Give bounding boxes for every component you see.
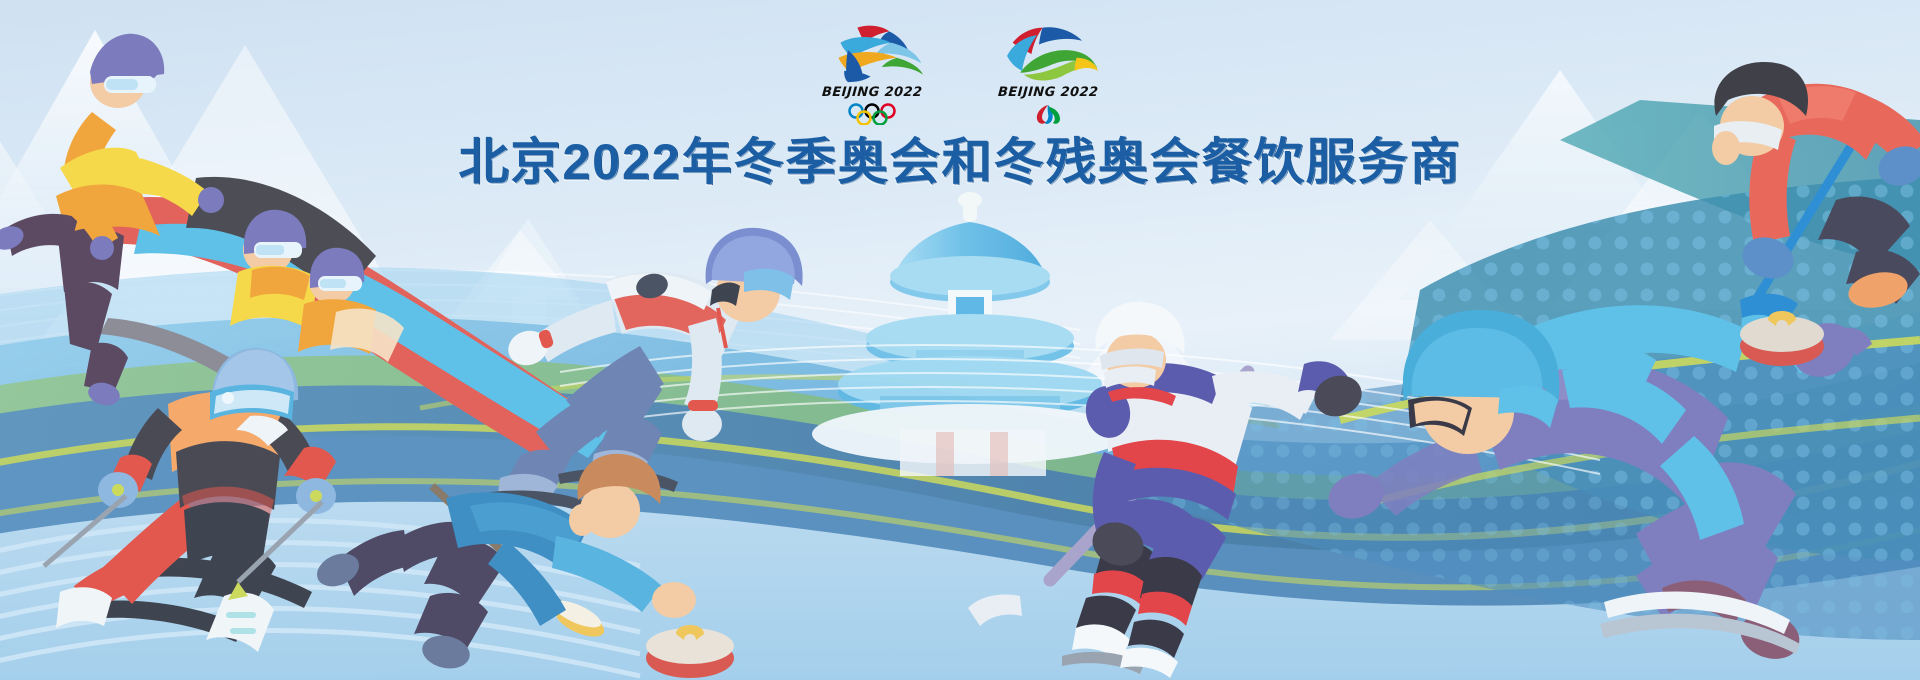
paralympic-emblem[interactable]: BEIJING 2022	[989, 22, 1107, 125]
paralympic-wordmark: BEIJING 2022	[997, 85, 1098, 100]
curling-stone-bottom	[646, 625, 734, 678]
beijing-2022-olympic-mark	[816, 22, 929, 84]
olympic-emblem[interactable]: BEIJING 2022	[813, 22, 931, 125]
banner-title-wrap: 北京2022年冬季奥会和冬残奥会餐饮服务商	[0, 122, 1920, 194]
ice-hockey-player	[968, 302, 1367, 678]
page-title: 北京2022年冬季奥会和冬残奥会餐饮服务商	[458, 122, 1461, 194]
cross-country-skier	[44, 348, 336, 652]
olympics-banner: BEIJING 2022 BEIJING 2022	[0, 0, 1920, 680]
emblem-group: BEIJING 2022 BEIJING 2022	[0, 22, 1920, 125]
beijing-2022-paralympic-mark	[992, 22, 1105, 84]
olympic-wordmark: BEIJING 2022	[821, 85, 922, 100]
